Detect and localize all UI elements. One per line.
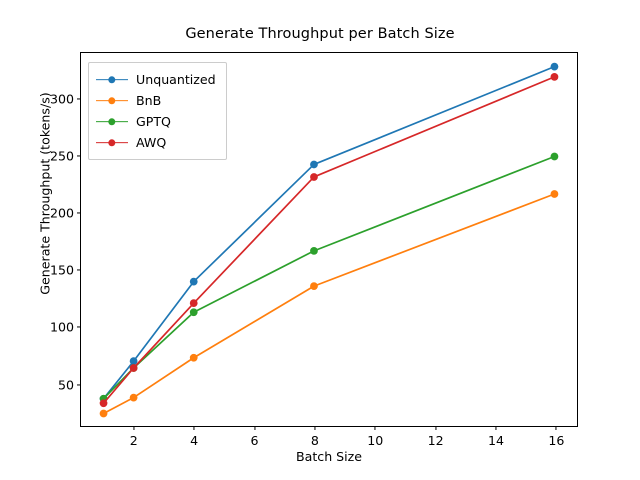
y-axis-tick-mark bbox=[77, 270, 81, 271]
x-axis-tick-mark bbox=[133, 426, 134, 430]
chart-title: Generate Throughput per Batch Size bbox=[0, 26, 640, 42]
data-point-marker bbox=[551, 153, 559, 161]
y-axis-tick-label: 200 bbox=[50, 206, 81, 221]
legend-marker-icon bbox=[96, 94, 128, 108]
legend-item-gptq[interactable]: GPTQ bbox=[96, 111, 216, 132]
legend-item-label: Unquantized bbox=[136, 72, 216, 87]
y-axis-tick-label: 150 bbox=[50, 263, 81, 278]
series-line bbox=[104, 156, 555, 398]
legend-item-label: BnB bbox=[136, 93, 161, 108]
legend-marker-icon bbox=[96, 136, 128, 150]
data-point-marker bbox=[310, 247, 318, 255]
data-point-marker bbox=[100, 410, 108, 418]
y-axis-tick-mark bbox=[77, 98, 81, 99]
data-point-marker bbox=[551, 63, 559, 71]
x-axis-tick-mark bbox=[314, 426, 315, 430]
legend-item-label: AWQ bbox=[136, 135, 166, 150]
chart-figure: Generate Throughput per Batch Size 50100… bbox=[0, 0, 640, 480]
x-axis-tick-mark bbox=[435, 426, 436, 430]
y-axis-tick-mark bbox=[77, 155, 81, 156]
y-axis-tick-label: 100 bbox=[50, 320, 81, 335]
x-axis-tick-mark bbox=[375, 426, 376, 430]
y-axis-tick-mark bbox=[77, 213, 81, 214]
data-point-marker bbox=[310, 282, 318, 290]
legend-item-bnb[interactable]: BnB bbox=[96, 90, 216, 111]
data-point-marker bbox=[130, 364, 138, 372]
legend-item-awq[interactable]: AWQ bbox=[96, 132, 216, 153]
data-point-marker bbox=[551, 190, 559, 198]
data-point-marker bbox=[130, 394, 138, 402]
data-point-marker bbox=[310, 161, 318, 169]
y-axis-label: Generate Throughput (tokens/s) bbox=[38, 44, 53, 344]
y-axis-tick-label: 300 bbox=[50, 91, 81, 106]
y-axis-tick-label: 250 bbox=[50, 148, 81, 163]
x-axis-label: Batch Size bbox=[80, 449, 578, 464]
chart-legend: UnquantizedBnBGPTQAWQ bbox=[88, 62, 227, 160]
x-axis-tick-mark bbox=[495, 426, 496, 430]
series-gptq bbox=[100, 153, 559, 403]
legend-marker-icon bbox=[96, 73, 128, 87]
data-point-marker bbox=[551, 73, 559, 81]
legend-item-label: GPTQ bbox=[136, 114, 171, 129]
data-point-marker bbox=[190, 354, 198, 362]
data-point-marker bbox=[190, 299, 198, 307]
legend-marker-icon bbox=[96, 115, 128, 129]
x-axis-tick-mark bbox=[556, 426, 557, 430]
series-line bbox=[104, 194, 555, 413]
series-bnb bbox=[100, 190, 559, 417]
y-axis-tick-mark bbox=[77, 327, 81, 328]
data-point-marker bbox=[100, 399, 108, 407]
y-axis-tick-mark bbox=[77, 384, 81, 385]
data-point-marker bbox=[190, 278, 198, 286]
data-point-marker bbox=[310, 173, 318, 181]
legend-item-unquantized[interactable]: Unquantized bbox=[96, 69, 216, 90]
x-axis-tick-mark bbox=[254, 426, 255, 430]
x-axis-tick-mark bbox=[194, 426, 195, 430]
data-point-marker bbox=[190, 308, 198, 316]
